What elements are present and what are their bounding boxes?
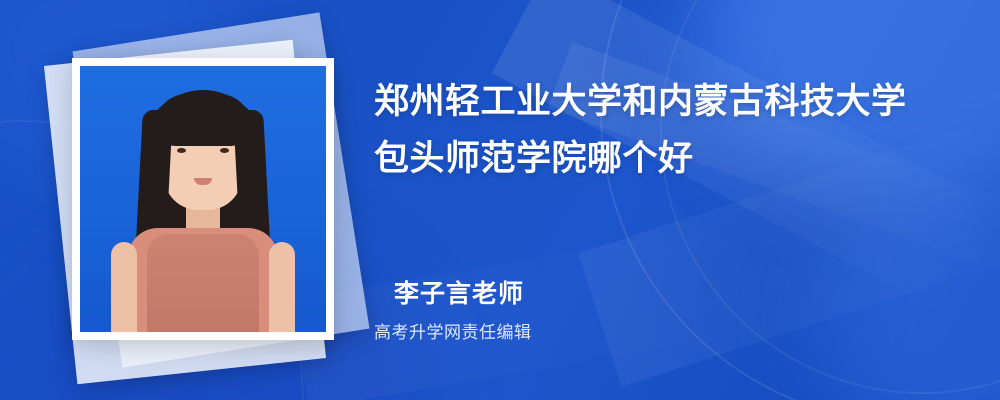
portrait-eye-left xyxy=(177,148,186,153)
portrait-dress-shade xyxy=(147,234,259,332)
author-name: 李子言老师 xyxy=(394,274,524,310)
author-role: 高考升学网责任编辑 xyxy=(374,318,532,343)
headline-line-1: 郑州轻工业大学和内蒙古科技大学 xyxy=(374,74,954,131)
portrait-arm-left xyxy=(111,242,137,332)
banner-card: 郑州轻工业大学和内蒙古科技大学 包头师范学院哪个好 李子言老师 高考升学网责任编… xyxy=(0,0,1000,400)
text-column: 郑州轻工业大学和内蒙古科技大学 包头师范学院哪个好 李子言老师 高考升学网责任编… xyxy=(374,0,974,400)
headline: 郑州轻工业大学和内蒙古科技大学 包头师范学院哪个好 xyxy=(374,74,954,187)
portrait-arm-right xyxy=(269,242,295,332)
headline-line-2: 包头师范学院哪个好 xyxy=(374,131,954,188)
portrait-photo xyxy=(80,66,326,332)
portrait-eye-right xyxy=(220,148,229,153)
